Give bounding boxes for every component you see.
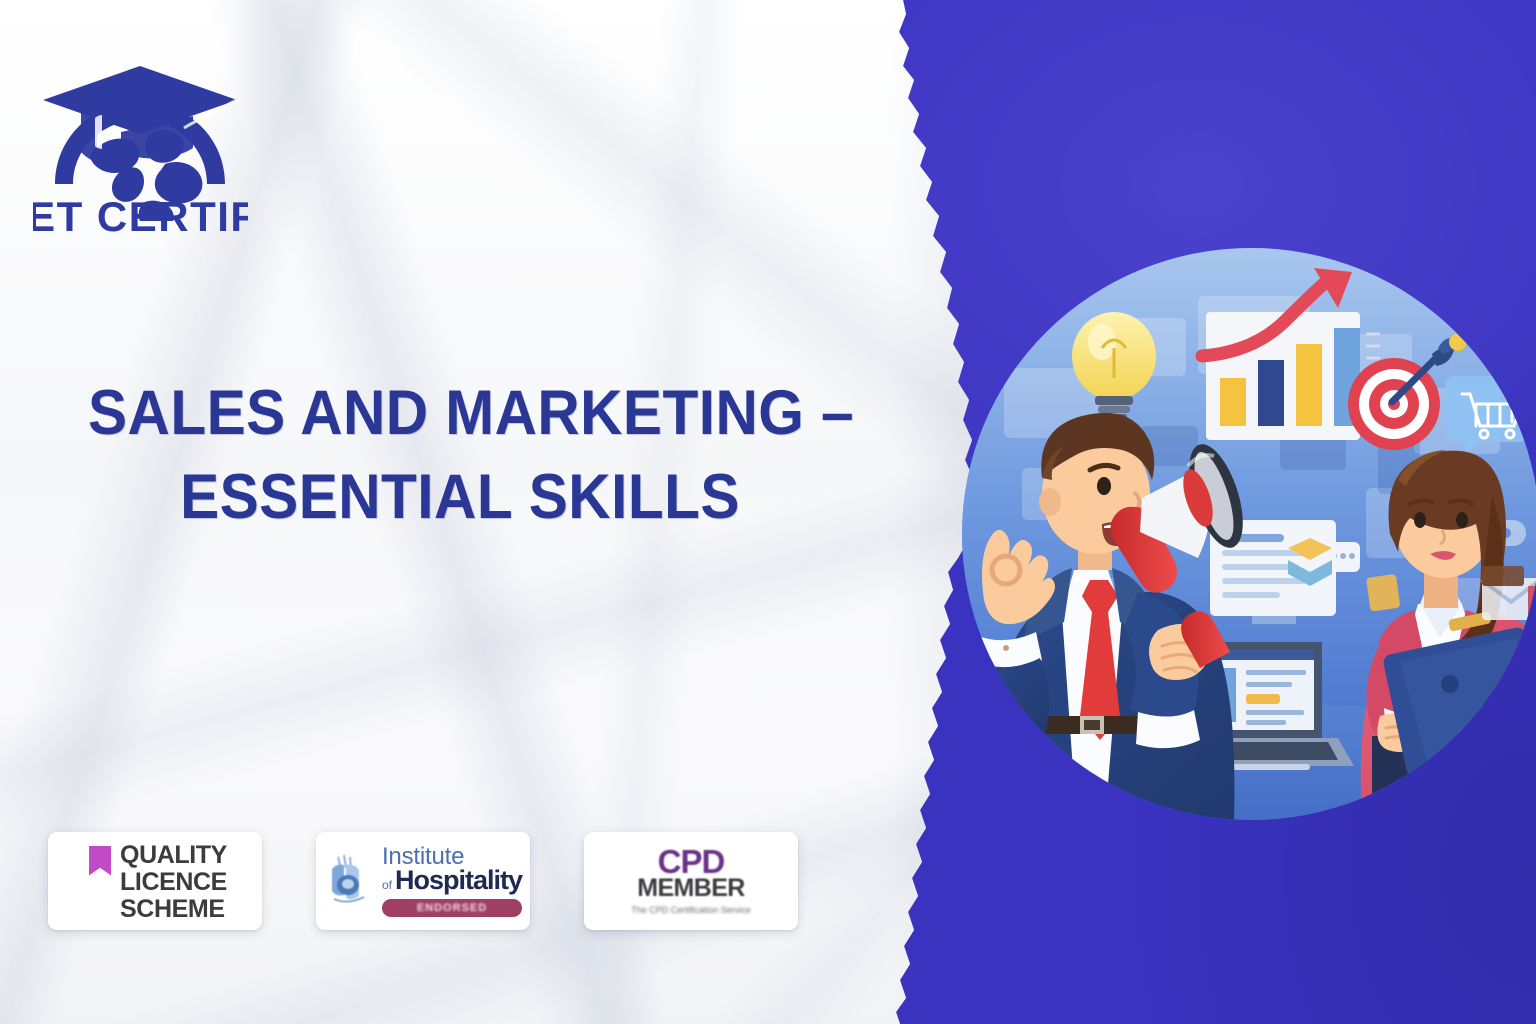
course-title: SALES AND MARKETING – ESSENTIAL SKILLS	[60, 372, 860, 540]
cpd-line-2: MEMBER	[637, 876, 745, 901]
get-certify-logo[interactable]: GET CERTIFY	[33, 36, 248, 236]
qls-line-1: QUALITY	[120, 842, 227, 869]
badge-cpd-member[interactable]: CPD MEMBER The CPD Certification Service	[584, 832, 798, 930]
badge-institute-of-hospitality[interactable]: Institute of Hospitality ENDORSED	[316, 832, 530, 930]
sales-marketing-illustration	[962, 248, 1536, 820]
course-banner: GET CERTIFY SALES AND MARKETING – ESSENT…	[0, 0, 1536, 1024]
ioh-endorsed-banner: ENDORSED	[382, 899, 522, 917]
ioh-word-of: of	[382, 879, 392, 891]
ioh-endorsed-label: ENDORSED	[417, 902, 487, 914]
course-title-line-1: SALES AND MARKETING –	[88, 372, 832, 456]
hospitality-crest-icon	[324, 851, 376, 911]
logo-wordmark: GET CERTIFY	[33, 193, 248, 236]
course-title-line-2: ESSENTIAL SKILLS	[88, 456, 832, 540]
badge-quality-licence-scheme[interactable]: QUALITY LICENCE SCHEME	[48, 832, 262, 930]
bookmark-ribbon-icon	[89, 846, 111, 876]
cpd-subtitle: The CPD Certification Service	[631, 905, 751, 916]
qls-line-3: SCHEME	[120, 896, 227, 923]
accreditation-badges: QUALITY LICENCE SCHEME	[48, 832, 798, 930]
ioh-word-hospitality: Hospitality	[395, 867, 522, 894]
qls-line-2: LICENCE	[120, 869, 227, 896]
